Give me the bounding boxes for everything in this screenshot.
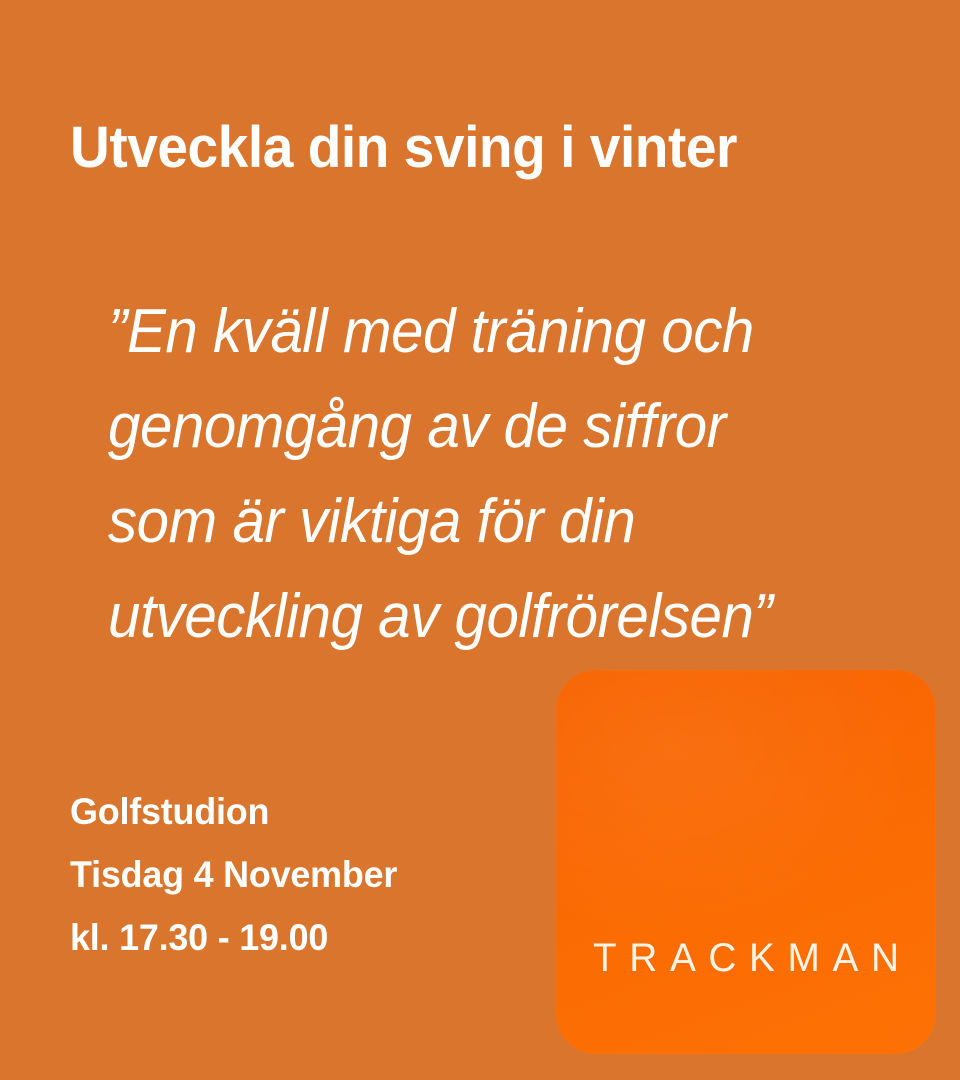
event-date: Tisdag 4 November [70, 843, 526, 906]
quote-line-4: utveckling av golfrörelsen” [108, 569, 888, 664]
event-time: kl. 17.30 - 19.00 [70, 906, 526, 969]
trackman-logo-tile: TRACKMAN [556, 670, 936, 1054]
quote-line-1: ”En kväll med träning och [108, 284, 888, 379]
poster-canvas: Utveckla din sving i vinter ”En kväll me… [0, 0, 960, 1080]
quote-line-2: genomgång av de siffror [108, 379, 888, 474]
event-info-block: Golfstudion Tisdag 4 November kl. 17.30 … [70, 780, 526, 969]
page-title: Utveckla din sving i vinter [70, 116, 868, 180]
event-venue: Golfstudion [70, 780, 526, 843]
quote-line-3: som är viktiga för din [108, 474, 888, 569]
quote-block: ”En kväll med träning och genomgång av d… [108, 284, 888, 664]
trackman-wordmark: TRACKMAN [562, 938, 931, 978]
